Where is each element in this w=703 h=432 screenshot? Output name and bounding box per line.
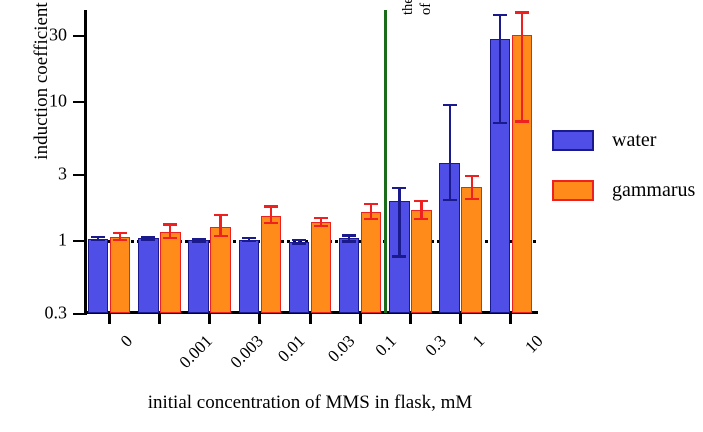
error-bar-cap-bottom bbox=[141, 239, 155, 241]
bar-gammarus-1 bbox=[461, 187, 482, 313]
error-bar-water-0.003 bbox=[188, 238, 209, 243]
bar-gammarus-0.03 bbox=[311, 222, 332, 313]
error-bar-water-0.3 bbox=[389, 187, 410, 257]
error-bar-stem bbox=[471, 175, 473, 200]
error-bar-cap-bottom bbox=[214, 235, 228, 237]
error-bar-gammarus-0.03 bbox=[311, 217, 332, 226]
y-tick-label-1: 1 bbox=[58, 231, 67, 249]
error-bar-gammarus-1 bbox=[461, 175, 482, 200]
error-bar-gammarus-0.003 bbox=[210, 214, 231, 238]
legend-item-water: water bbox=[552, 128, 695, 152]
mortality-divider bbox=[384, 10, 387, 313]
error-bar-cap-top bbox=[292, 239, 306, 241]
error-bar-stem bbox=[521, 11, 523, 122]
bar-water-0.1 bbox=[339, 238, 360, 313]
error-bar-cap-bottom bbox=[264, 222, 278, 224]
x-tick-0.01 bbox=[258, 313, 261, 324]
x-tick-0 bbox=[108, 313, 111, 324]
x-tick-label-10: 10 bbox=[522, 332, 546, 356]
error-bar-cap-top bbox=[414, 200, 428, 202]
bar-water-0 bbox=[88, 239, 109, 313]
error-bar-cap-bottom bbox=[192, 240, 206, 242]
error-bar-cap-bottom bbox=[414, 218, 428, 220]
error-bar-cap-bottom bbox=[242, 240, 256, 242]
error-bar-cap-bottom bbox=[91, 239, 105, 241]
error-bar-cap-bottom bbox=[163, 237, 177, 239]
y-tick-label-3: 3 bbox=[58, 164, 67, 182]
error-bar-water-0.03 bbox=[289, 239, 310, 245]
x-tick-label-0.001: 0.001 bbox=[177, 332, 216, 371]
y-tick-30: 30 bbox=[73, 35, 84, 37]
bar-water-0.03 bbox=[289, 242, 310, 313]
y-tick-label-10: 10 bbox=[49, 92, 67, 110]
error-bar-gammarus-10 bbox=[512, 11, 533, 122]
bar-gammarus-0 bbox=[110, 237, 131, 313]
error-bar-water-0.01 bbox=[239, 237, 260, 242]
bar-gammarus-0.003 bbox=[210, 227, 231, 313]
bar-gammarus-0.001 bbox=[160, 232, 181, 313]
error-bar-gammarus-0.01 bbox=[261, 205, 282, 224]
error-bar-cap-bottom bbox=[493, 122, 507, 124]
error-bar-cap-bottom bbox=[515, 120, 529, 122]
y-tick-1: 1 bbox=[73, 240, 84, 242]
bar-gammarus-0.3 bbox=[411, 210, 432, 313]
x-tick-label-0.003: 0.003 bbox=[227, 332, 266, 371]
legend-label-water: water bbox=[612, 129, 656, 152]
x-tick-label-0: 0 bbox=[118, 332, 136, 350]
error-bar-cap-bottom bbox=[342, 240, 356, 242]
legend-swatch-gammarus bbox=[552, 180, 594, 201]
x-tick-0.03 bbox=[309, 313, 312, 324]
error-bar-cap-top bbox=[264, 205, 278, 207]
error-bar-water-0.1 bbox=[339, 234, 360, 242]
error-bar-gammarus-0 bbox=[110, 232, 131, 241]
error-bar-stem bbox=[398, 187, 400, 257]
bar-water-0.003 bbox=[188, 240, 209, 313]
error-bar-cap-top bbox=[113, 232, 127, 234]
error-bar-cap-bottom bbox=[292, 242, 306, 244]
error-bar-cap-top bbox=[91, 236, 105, 238]
error-bar-water-0 bbox=[88, 236, 109, 241]
error-bar-cap-top bbox=[314, 217, 328, 219]
error-bar-cap-top bbox=[214, 214, 228, 216]
error-bar-water-0.001 bbox=[138, 236, 159, 241]
error-bar-gammarus-0.1 bbox=[361, 203, 382, 220]
error-bar-cap-bottom bbox=[392, 255, 406, 257]
error-bar-cap-top bbox=[342, 234, 356, 236]
x-tick-label-0.01: 0.01 bbox=[274, 332, 307, 365]
bar-gammarus-0.01 bbox=[261, 216, 282, 313]
error-bar-cap-bottom bbox=[364, 218, 378, 220]
divider-note-line2: of the test subject bbox=[419, 0, 434, 15]
y-tick-label-0.3: 0.3 bbox=[45, 304, 68, 322]
y-tick-3: 3 bbox=[73, 174, 84, 176]
x-tick-10 bbox=[509, 313, 512, 324]
error-bar-cap-top bbox=[392, 187, 406, 189]
x-tick-label-1: 1 bbox=[469, 332, 487, 350]
x-tick-label-0.1: 0.1 bbox=[372, 332, 399, 359]
error-bar-cap-bottom bbox=[314, 225, 328, 227]
error-bar-cap-top bbox=[141, 236, 155, 238]
x-axis-title: initial concentration of MMS in flask, m… bbox=[84, 392, 536, 414]
plot-area: 0.3131030 the mortalityof the test subje… bbox=[84, 10, 536, 313]
y-tick-0.3: 0.3 bbox=[73, 313, 84, 315]
error-bar-cap-top bbox=[465, 175, 479, 177]
y-tick-10: 10 bbox=[73, 101, 84, 103]
x-tick-label-0.3: 0.3 bbox=[423, 332, 450, 359]
bar-gammarus-0.1 bbox=[361, 212, 382, 313]
x-tick-0.3 bbox=[409, 313, 412, 324]
legend: water gammarus bbox=[552, 128, 695, 228]
bar-water-0.01 bbox=[239, 240, 260, 313]
x-tick-label-0.03: 0.03 bbox=[325, 332, 358, 365]
x-tick-1 bbox=[459, 313, 462, 324]
error-bar-water-1 bbox=[439, 104, 460, 201]
legend-item-gammarus: gammarus bbox=[552, 178, 695, 202]
x-tick-0.001 bbox=[158, 313, 161, 324]
error-bar-water-10 bbox=[490, 14, 511, 124]
divider-note-line1: the mortality bbox=[401, 0, 416, 15]
error-bar-cap-top bbox=[493, 14, 507, 16]
error-bar-cap-top bbox=[515, 11, 529, 13]
error-bar-cap-bottom bbox=[465, 198, 479, 200]
x-tick-0.1 bbox=[359, 313, 362, 324]
error-bar-cap-top bbox=[364, 203, 378, 205]
error-bar-cap-bottom bbox=[113, 239, 127, 241]
y-tick-label-30: 30 bbox=[49, 25, 67, 43]
error-bar-stem bbox=[219, 214, 221, 238]
error-bar-stem bbox=[449, 104, 451, 201]
error-bar-gammarus-0.3 bbox=[411, 200, 432, 220]
error-bar-cap-top bbox=[163, 223, 177, 225]
chart-figure: induction coefficient initial concentrat… bbox=[0, 0, 703, 432]
bar-water-0.001 bbox=[138, 238, 159, 313]
error-bar-cap-top bbox=[443, 104, 457, 106]
legend-swatch-water bbox=[552, 130, 594, 151]
error-bar-gammarus-0.001 bbox=[160, 223, 181, 239]
error-bar-stem bbox=[499, 14, 501, 124]
error-bar-cap-bottom bbox=[443, 199, 457, 201]
x-tick-0.003 bbox=[208, 313, 211, 324]
legend-label-gammarus: gammarus bbox=[612, 179, 695, 202]
